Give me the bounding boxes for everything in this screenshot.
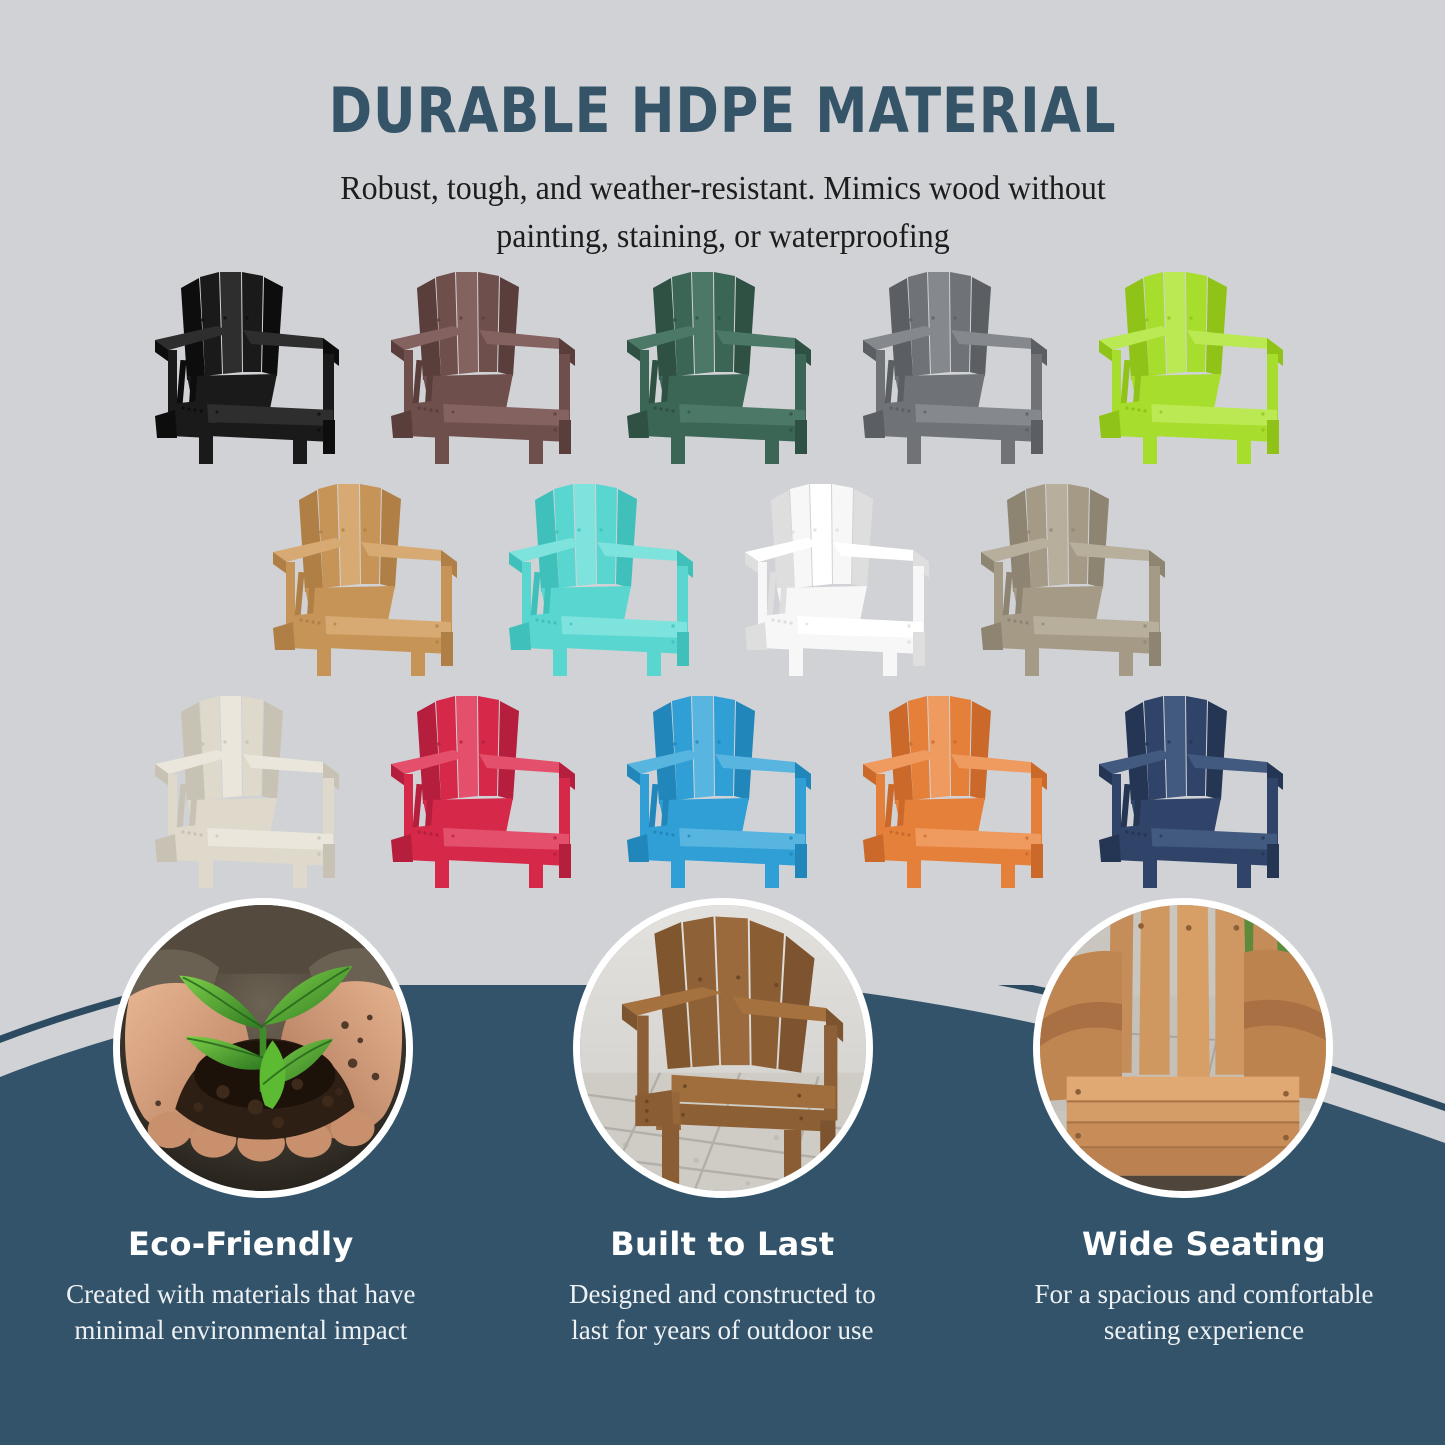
feature-desc-line-2: minimal environmental impact	[74, 1315, 407, 1345]
chair-swatch-turquoise[interactable]	[487, 470, 723, 682]
adirondack-chair-brown	[383, 264, 591, 464]
chair-row-2	[0, 470, 1445, 682]
feature-desc-line-1: For a spacious and comfortable	[1035, 1279, 1374, 1309]
infographic-canvas: DURABLE HDPE MATERIAL Robust, tough, and…	[0, 0, 1445, 1445]
chair-swatch-ivory[interactable]	[133, 682, 369, 894]
hands-holding-seedling-photo	[120, 905, 406, 1191]
subtitle-line-2: painting, staining, or waterproofing	[496, 218, 950, 255]
chair-image-white	[737, 476, 945, 676]
feature-title: Eco-Friendly	[14, 1225, 468, 1263]
chair-image-gray	[855, 264, 1063, 464]
feature-photo-circles	[0, 898, 1445, 1218]
adirondack-chair-black	[147, 264, 355, 464]
feature-title: Built to Last	[496, 1225, 950, 1263]
chair-image-turquoise	[501, 476, 709, 676]
adirondack-chair-turquoise	[501, 476, 709, 676]
chair-image-orange	[855, 688, 1063, 888]
chair-color-grid	[0, 258, 1445, 898]
adirondack-chair-dark-green	[619, 264, 827, 464]
adirondack-chair-navy-blue	[1091, 688, 1299, 888]
chair-image-teak	[265, 476, 473, 676]
feature-desc-line-2: seating experience	[1104, 1315, 1304, 1345]
page-title: DURABLE HDPE MATERIAL	[43, 0, 1401, 143]
chair-swatch-gray[interactable]	[841, 258, 1077, 470]
adirondack-chair-ivory	[147, 688, 355, 888]
feature-captions: Eco-Friendly Created with materials that…	[0, 1225, 1445, 1348]
chair-image-red	[383, 688, 591, 888]
circle-photo-eco	[113, 898, 413, 1198]
chair-swatch-white[interactable]	[723, 470, 959, 682]
chair-swatch-navy-blue[interactable]	[1077, 682, 1313, 894]
chair-swatch-red[interactable]	[369, 682, 605, 894]
chair-swatch-lime-green[interactable]	[1077, 258, 1313, 470]
feature-desc-line-1: Designed and constructed to	[569, 1279, 876, 1309]
chair-image-black	[147, 264, 355, 464]
chair-image-ivory	[147, 688, 355, 888]
brown-adirondack-chair-on-patio-photo	[580, 905, 866, 1191]
chair-image-navy-blue	[1091, 688, 1299, 888]
adirondack-chair-orange	[855, 688, 1063, 888]
feature-wide-seating: Wide Seating For a spacious and comforta…	[963, 1225, 1445, 1348]
chair-swatch-blue[interactable]	[605, 682, 841, 894]
chair-image-weathered-wood	[973, 476, 1181, 676]
feature-desc-line-2: last for years of outdoor use	[571, 1315, 873, 1345]
chair-swatch-orange[interactable]	[841, 682, 1077, 894]
feature-desc-line-1: Created with materials that have	[66, 1279, 415, 1309]
circle-photo-durability	[573, 898, 873, 1198]
feature-description: Designed and constructed to last for yea…	[496, 1277, 950, 1348]
feature-eco-friendly: Eco-Friendly Created with materials that…	[0, 1225, 482, 1348]
adirondack-chair-lime-green	[1091, 264, 1299, 464]
chair-image-lime-green	[1091, 264, 1299, 464]
feature-description: For a spacious and comfortable seating e…	[977, 1277, 1431, 1348]
chair-swatch-brown[interactable]	[369, 258, 605, 470]
subtitle-line-1: Robust, tough, and weather-resistant. Mi…	[340, 170, 1105, 207]
feature-built-to-last: Built to Last Designed and constructed t…	[482, 1225, 964, 1348]
chair-swatch-weathered-wood[interactable]	[959, 470, 1195, 682]
page-subtitle: Robust, tough, and weather-resistant. Mi…	[248, 143, 1197, 262]
chair-image-dark-green	[619, 264, 827, 464]
adirondack-chair-blue	[619, 688, 827, 888]
circle-photo-wide-seating	[1033, 898, 1333, 1198]
wide-chair-seat-closeup-photo	[1040, 905, 1326, 1191]
chair-swatch-dark-green[interactable]	[605, 258, 841, 470]
feature-title: Wide Seating	[977, 1225, 1431, 1263]
feature-description: Created with materials that have minimal…	[14, 1277, 468, 1348]
chair-row-1	[0, 258, 1445, 470]
chair-row-3	[0, 682, 1445, 894]
chair-image-brown	[383, 264, 591, 464]
header: DURABLE HDPE MATERIAL Robust, tough, and…	[0, 0, 1445, 262]
adirondack-chair-white	[737, 476, 945, 676]
chair-swatch-teak[interactable]	[251, 470, 487, 682]
chair-image-blue	[619, 688, 827, 888]
adirondack-chair-weathered-wood	[973, 476, 1181, 676]
adirondack-chair-red	[383, 688, 591, 888]
chair-swatch-black[interactable]	[133, 258, 369, 470]
adirondack-chair-gray	[855, 264, 1063, 464]
adirondack-chair-teak	[265, 476, 473, 676]
